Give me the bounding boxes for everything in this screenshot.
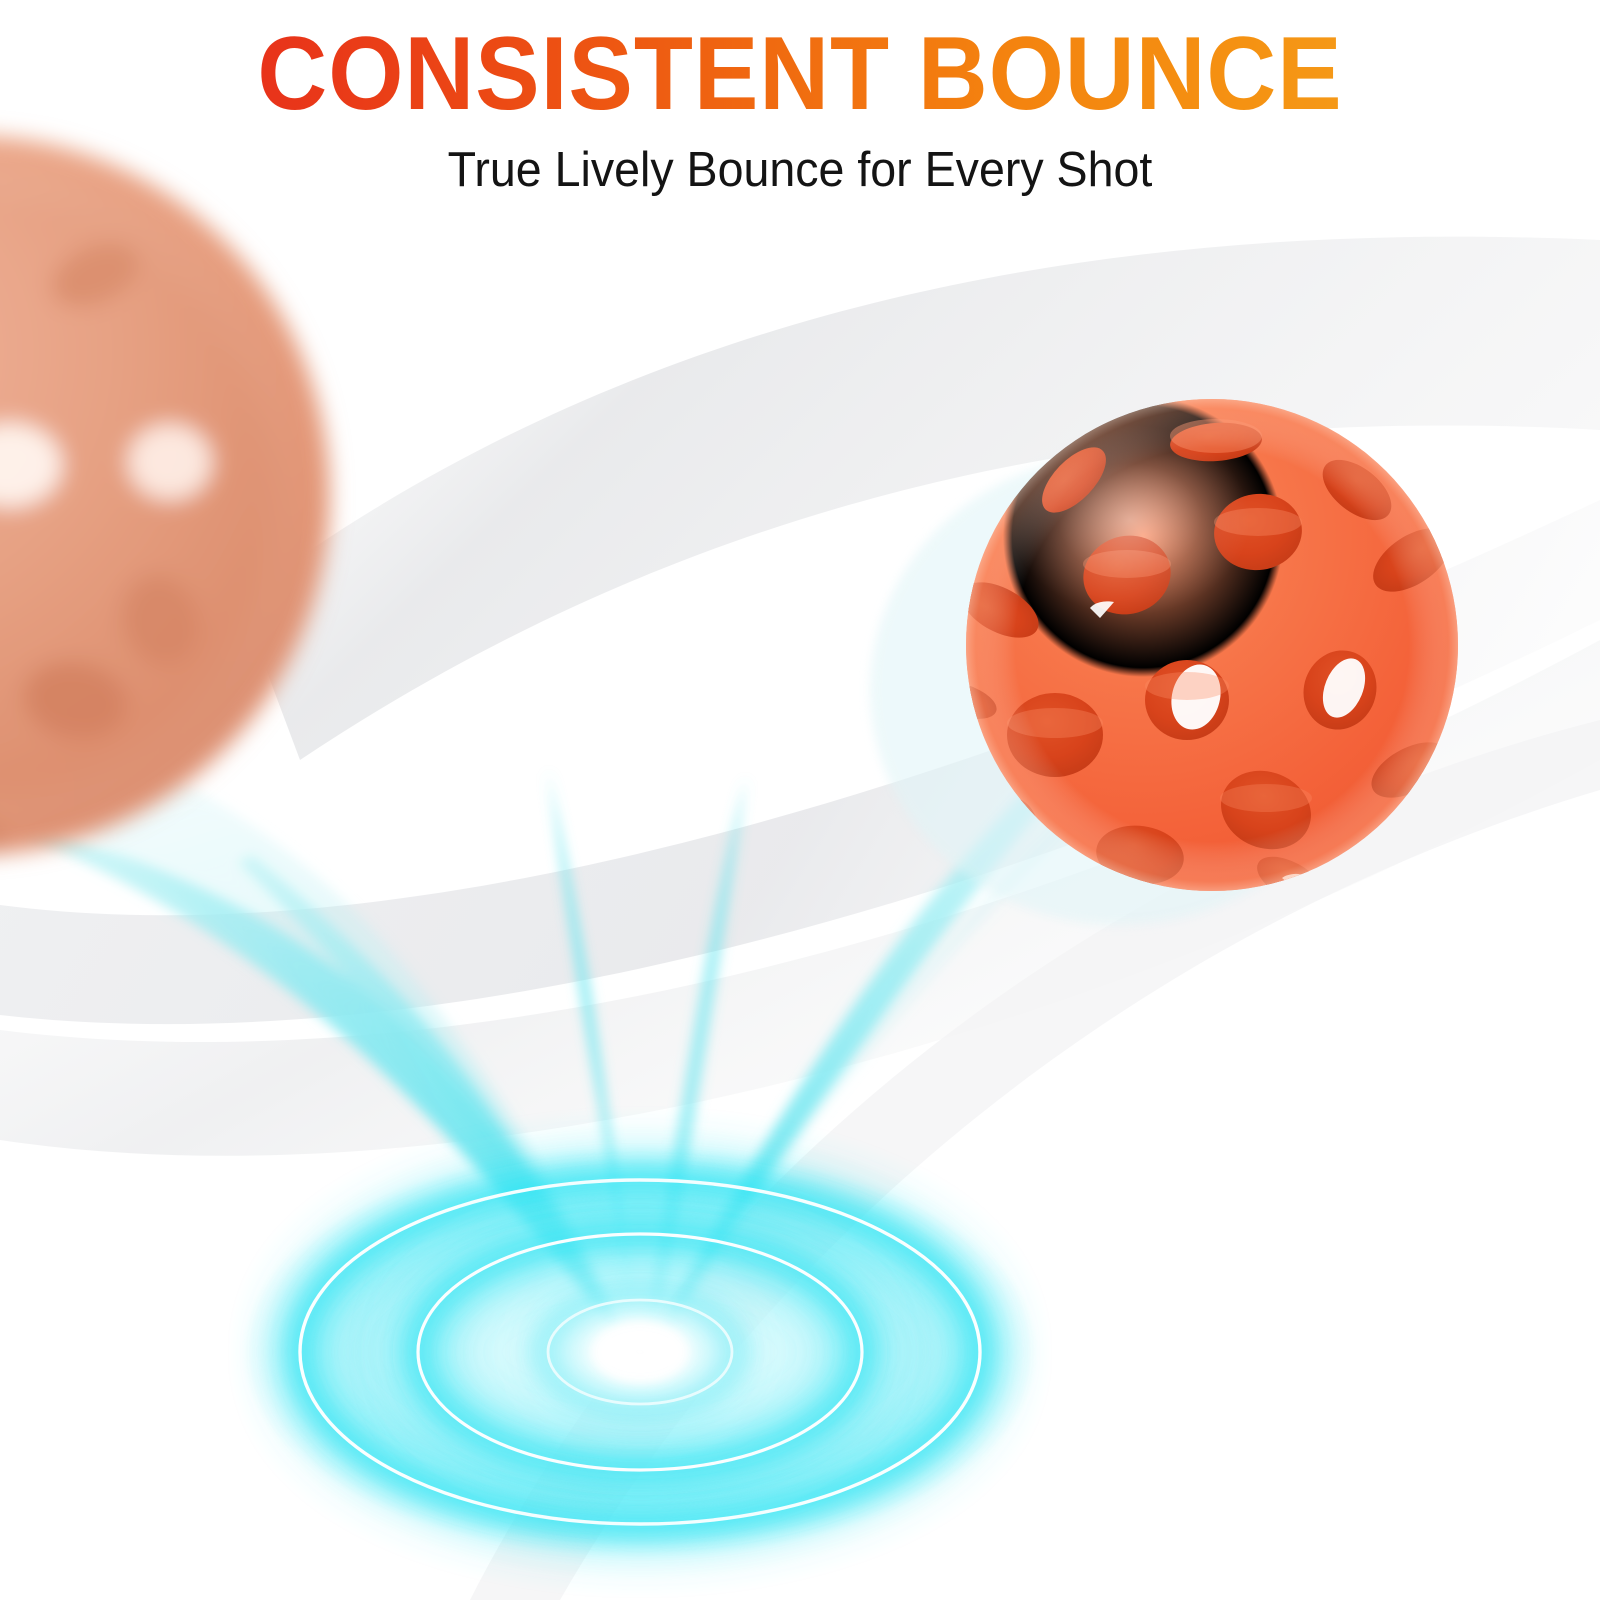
incoming-ball-rim bbox=[0, 135, 330, 855]
incoming-ball-blurred bbox=[0, 135, 330, 866]
outgoing-ball-specular bbox=[1010, 425, 1250, 615]
product-feature-banner: CONSISTENT BOUNCE True Lively Bounce for… bbox=[0, 0, 1600, 1600]
bounce-impact-core bbox=[592, 1322, 688, 1382]
bounce-illustration-layer bbox=[0, 0, 1600, 1600]
bounce-ripple-group bbox=[240, 1147, 1040, 1557]
outgoing-ball-sharp bbox=[870, 399, 1462, 925]
